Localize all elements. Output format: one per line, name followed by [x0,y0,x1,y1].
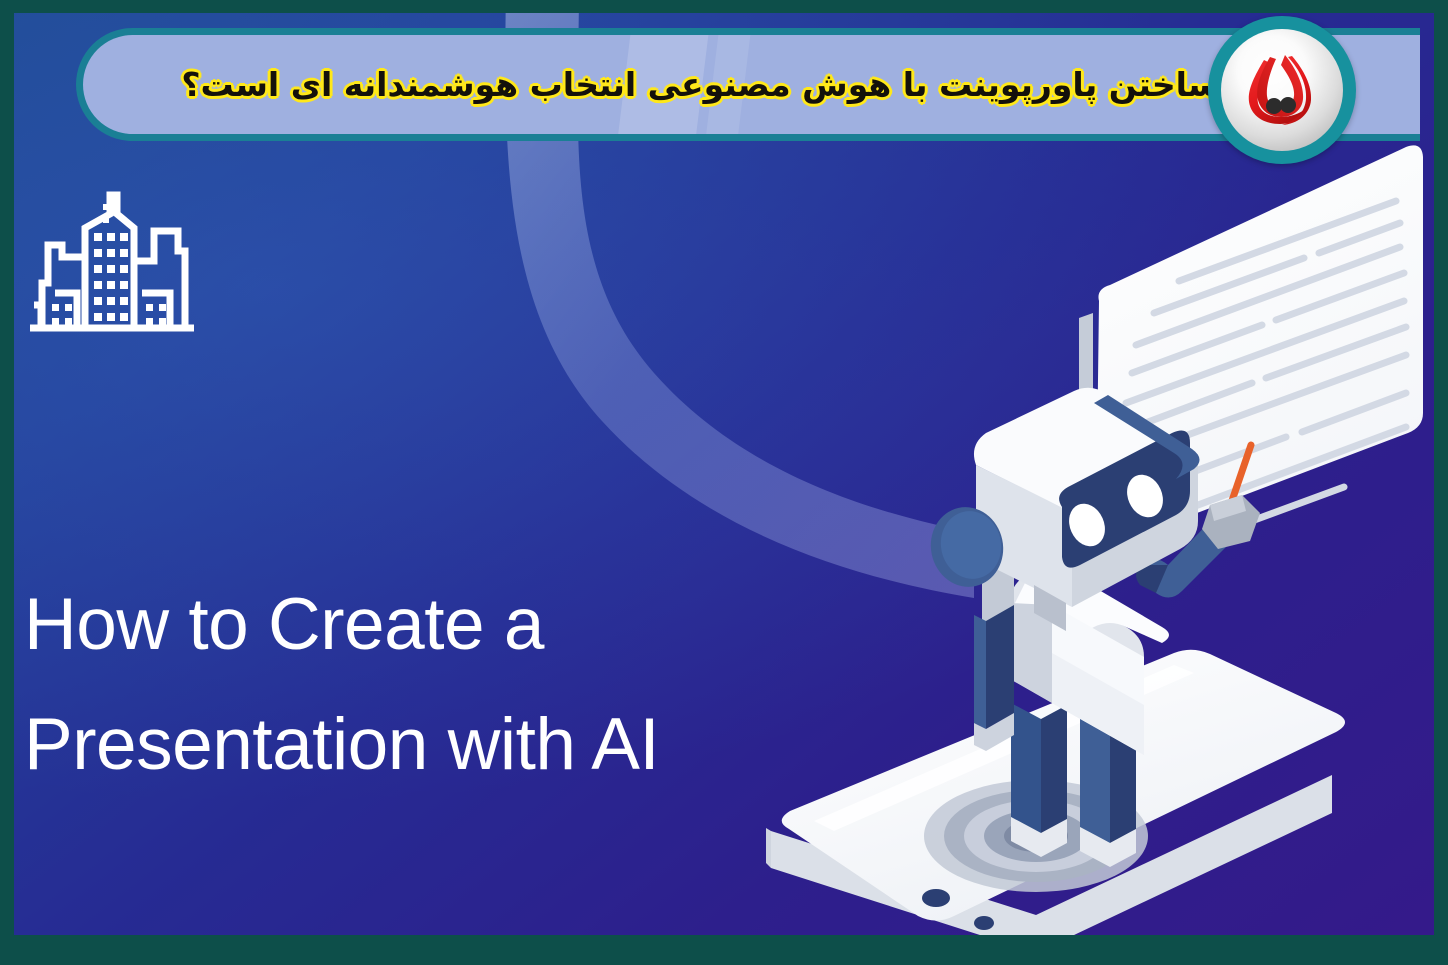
robot-ear-disc [923,500,1010,593]
frame-border-top [0,0,1448,13]
logo-disc [1221,29,1343,151]
title-line-2: Presentation with AI [24,685,844,805]
ai-robot-presenter [923,388,1260,867]
slide-background: How to Create a Presentation with AI [14,13,1434,935]
page-title: How to Create a Presentation with AI [24,565,844,806]
red-tulip-logo-mark [1230,38,1334,142]
frame-border-right [1434,0,1448,965]
logo-dot-right [1280,97,1296,113]
headline-text: چرا ساختن پاورپوینت با هوش مصنوعی انتخاب… [145,66,1357,104]
slide-canvas-root: How to Create a Presentation with AI چرا… [0,0,1448,965]
city-skyline-icon [22,173,202,373]
pointer-stick [1223,445,1251,527]
logo-dot-left [1266,98,1282,114]
frame-border-bottom [0,935,1448,965]
tablet-device [766,650,1345,935]
hologram-rings [924,780,1148,892]
presentation-whiteboard [1079,145,1423,547]
robot-eye-right [1121,469,1170,523]
tablet-camera-dot [922,889,950,907]
frame-border-left [0,0,14,965]
title-line-1: How to Create a [24,565,844,685]
robot-eye-left [1063,498,1112,552]
brand-logo[interactable] [1208,16,1356,164]
